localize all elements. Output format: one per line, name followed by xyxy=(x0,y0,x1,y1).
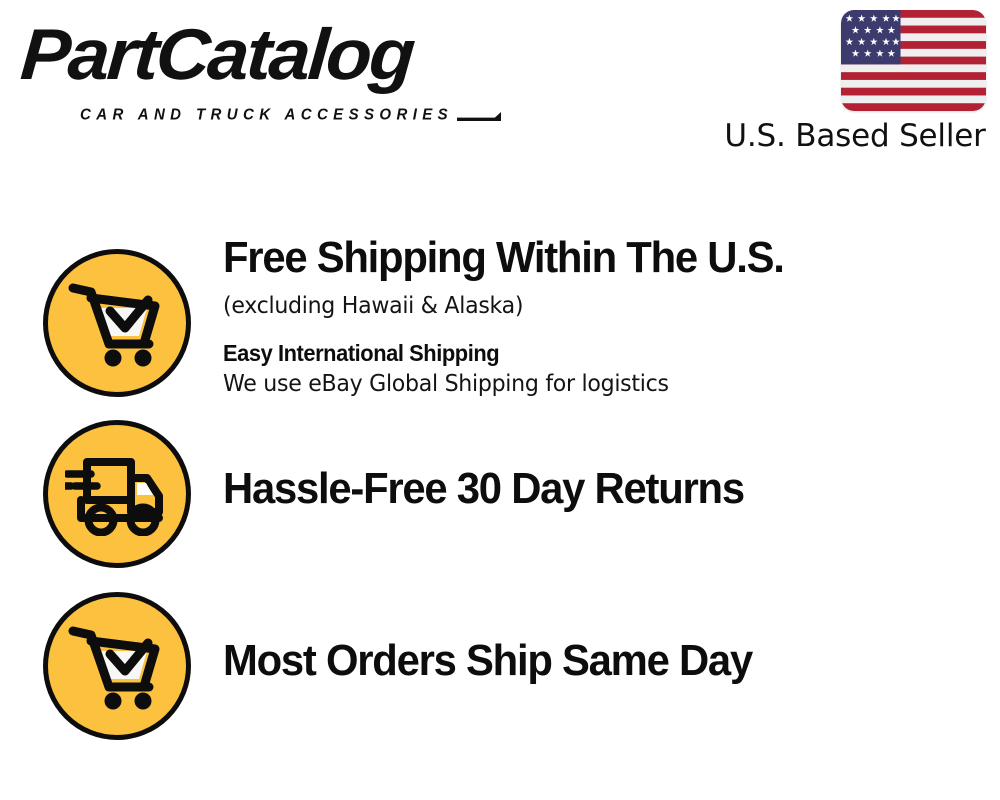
logo-swoosh-accent xyxy=(457,112,501,121)
feature-copy: Most Orders Ship Same Day xyxy=(223,636,980,686)
feature-title: Free Shipping Within The U.S. xyxy=(223,233,942,283)
feature-copy: Free Shipping Within The U.S. (excluding… xyxy=(223,233,980,399)
promo-banner: PartCatalog CAR AND TRUCK ACCESSORIES xyxy=(0,0,1000,800)
us-flag-icon xyxy=(841,10,986,111)
brand-logo-tagline: CAR AND TRUCK ACCESSORIES xyxy=(80,106,453,124)
feature-copy: Hassle-Free 30 Day Returns xyxy=(223,464,980,514)
brand-logo[interactable]: PartCatalog CAR AND TRUCK ACCESSORIES xyxy=(24,20,494,120)
feature-subtext-exclusions: (excluding Hawaii & Alaska) xyxy=(223,291,950,321)
feature-title: Most Orders Ship Same Day xyxy=(223,636,942,686)
feature-subtext-logistics: We use eBay Global Shipping for logistic… xyxy=(223,369,950,399)
brand-logo-wordmark: PartCatalog xyxy=(18,14,416,96)
feature-title: Hassle-Free 30 Day Returns xyxy=(223,464,942,514)
feature-subtext-international-heading: Easy International Shipping xyxy=(223,338,942,368)
delivery-truck-icon xyxy=(43,420,191,568)
shopping-cart-check-icon xyxy=(43,249,191,397)
shopping-cart-check-icon xyxy=(43,592,191,740)
us-based-seller-badge xyxy=(841,10,986,111)
us-based-seller-label: U.S. Based Seller xyxy=(724,117,986,155)
